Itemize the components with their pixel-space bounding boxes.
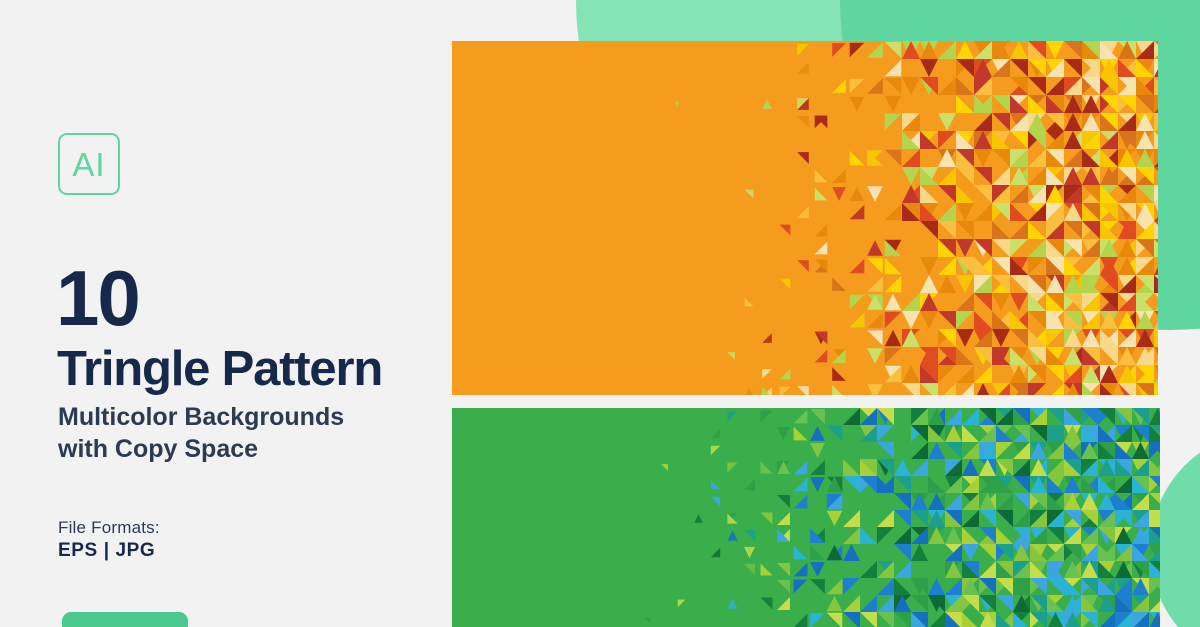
file-formats-label: File Formats: <box>58 518 160 538</box>
page-subtitle-line-1: Multicolor Backgrounds <box>58 401 448 433</box>
ai-badge-label: AI <box>72 148 105 181</box>
page-subtitle: Multicolor Backgrounds with Copy Space <box>58 401 448 465</box>
page-title: Tringle Pattern <box>57 345 382 394</box>
item-count: 10 <box>56 259 139 337</box>
orange-triangle-pattern-art <box>452 41 1158 395</box>
green-triangle-pattern-art <box>452 408 1160 627</box>
preview-panel-orange[interactable] <box>452 41 1158 395</box>
preview-panel-green[interactable] <box>452 408 1160 627</box>
poster-canvas: AI 10 Tringle Pattern Multicolor Backgro… <box>0 0 1200 627</box>
cta-button[interactable] <box>62 612 188 627</box>
page-subtitle-line-2: with Copy Space <box>58 433 448 465</box>
ai-format-badge: AI <box>58 133 120 195</box>
file-formats-value: EPS | JPG <box>58 540 155 562</box>
info-column: AI 10 Tringle Pattern Multicolor Backgro… <box>0 0 452 627</box>
